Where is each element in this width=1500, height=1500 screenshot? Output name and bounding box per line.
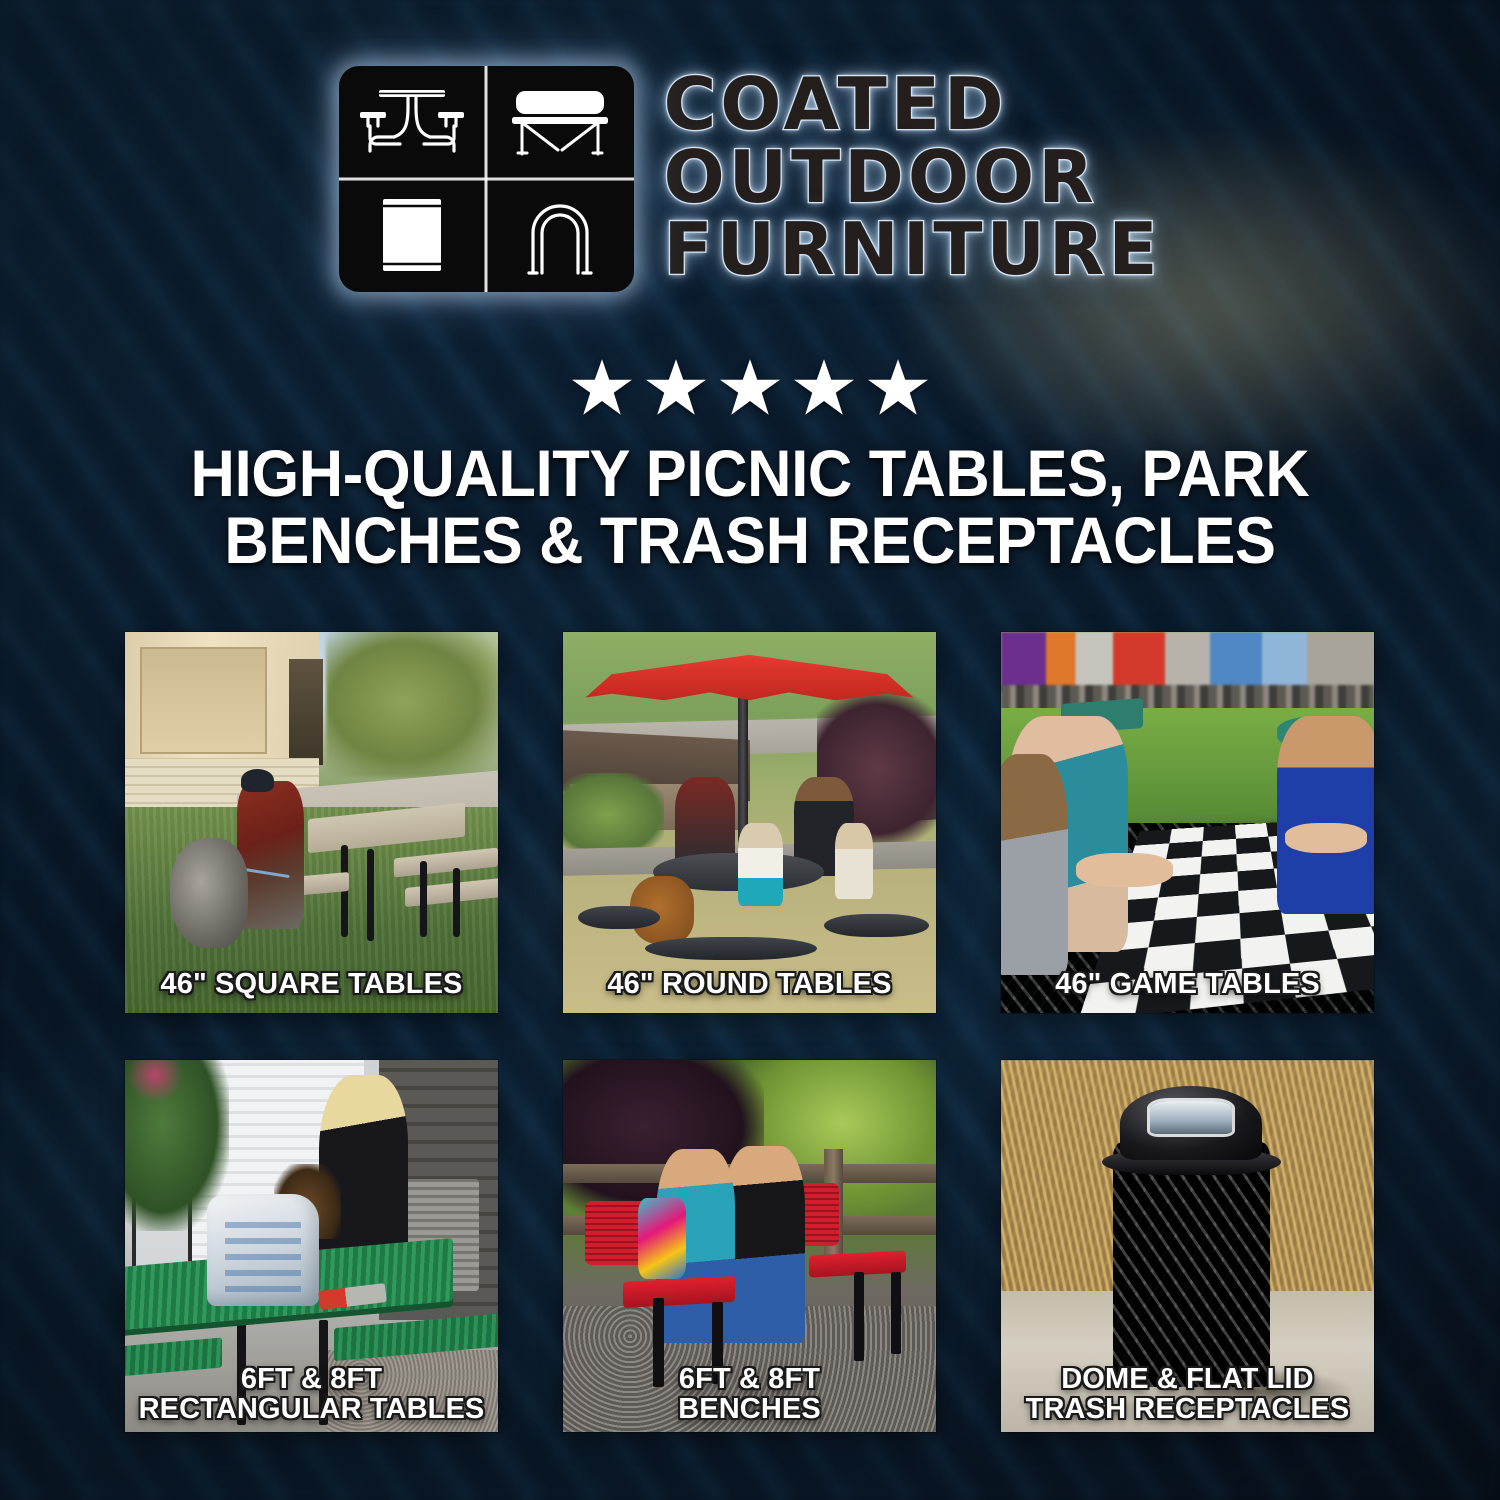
product-photo-game-tables bbox=[1001, 632, 1374, 1013]
product-card-square-tables[interactable]: 46" SQUARE TABLES bbox=[125, 632, 498, 1013]
product-caption: 46" SQUARE TABLES bbox=[131, 969, 492, 999]
product-caption-line-1: 6FT & 8FT bbox=[569, 1364, 930, 1394]
bike-rack-icon bbox=[486, 179, 634, 292]
star-icon bbox=[645, 357, 707, 417]
product-card-round-tables[interactable]: 46" ROUND TABLES bbox=[563, 632, 936, 1013]
brand-name-line-1: COATED bbox=[664, 69, 1008, 140]
product-photo-square-tables bbox=[125, 632, 498, 1013]
brand-name-line-3: FURNITURE bbox=[664, 214, 1162, 285]
park-bench-icon bbox=[486, 66, 634, 179]
logo-mark bbox=[339, 66, 634, 292]
product-caption: DOME & FLAT LID TRASH RECEPTACLES bbox=[1007, 1364, 1368, 1424]
product-caption-line-1: 46" SQUARE TABLES bbox=[131, 969, 492, 999]
trash-receptacle-icon bbox=[339, 179, 487, 292]
headline-line-1: HIGH-QUALITY PICNIC TABLES, PARK bbox=[155, 440, 1345, 507]
product-caption: 6FT & 8FT RECTANGULAR TABLES bbox=[131, 1364, 492, 1424]
product-caption-line-1: 46" ROUND TABLES bbox=[569, 969, 930, 999]
product-card-game-tables[interactable]: 46" GAME TABLES bbox=[1001, 632, 1374, 1013]
star-rating bbox=[0, 357, 1500, 417]
product-card-rectangular-tables[interactable]: 6FT & 8FT RECTANGULAR TABLES bbox=[125, 1060, 498, 1432]
star-icon bbox=[867, 357, 929, 417]
brand-name-line-2: OUTDOOR bbox=[664, 142, 1098, 213]
product-caption: 46" GAME TABLES bbox=[1007, 969, 1368, 999]
star-icon bbox=[793, 357, 855, 417]
promo-banner: COATED OUTDOOR FURNITURE HIGH-QUALITY PI… bbox=[0, 0, 1500, 1500]
product-card-trash-receptacles[interactable]: DOME & FLAT LID TRASH RECEPTACLES bbox=[1001, 1060, 1374, 1432]
page-title: HIGH-QUALITY PICNIC TABLES, PARK BENCHES… bbox=[110, 440, 1390, 575]
product-caption-line-2: BENCHES bbox=[569, 1394, 930, 1424]
star-icon bbox=[719, 357, 781, 417]
product-caption-line-1: 46" GAME TABLES bbox=[1007, 969, 1368, 999]
product-caption-line-1: DOME & FLAT LID bbox=[1007, 1364, 1368, 1394]
product-caption-line-2: RECTANGULAR TABLES bbox=[131, 1394, 492, 1424]
picnic-table-icon bbox=[339, 66, 487, 179]
brand-wordmark: COATED OUTDOOR FURNITURE bbox=[664, 69, 1162, 289]
star-icon bbox=[571, 357, 633, 417]
product-caption-line-2: TRASH RECEPTACLES bbox=[1007, 1394, 1368, 1424]
product-card-benches[interactable]: 6FT & 8FT BENCHES bbox=[563, 1060, 936, 1432]
headline-line-2: BENCHES & TRASH RECEPTACLES bbox=[155, 507, 1345, 574]
product-photo-round-tables bbox=[563, 632, 936, 1013]
product-grid: 46" SQUARE TABLES 46" ROUND TABLES bbox=[125, 632, 1375, 1432]
product-caption-line-1: 6FT & 8FT bbox=[131, 1364, 492, 1394]
product-caption: 6FT & 8FT BENCHES bbox=[569, 1364, 930, 1424]
product-caption: 46" ROUND TABLES bbox=[569, 969, 930, 999]
brand-logo: COATED OUTDOOR FURNITURE bbox=[0, 66, 1500, 292]
